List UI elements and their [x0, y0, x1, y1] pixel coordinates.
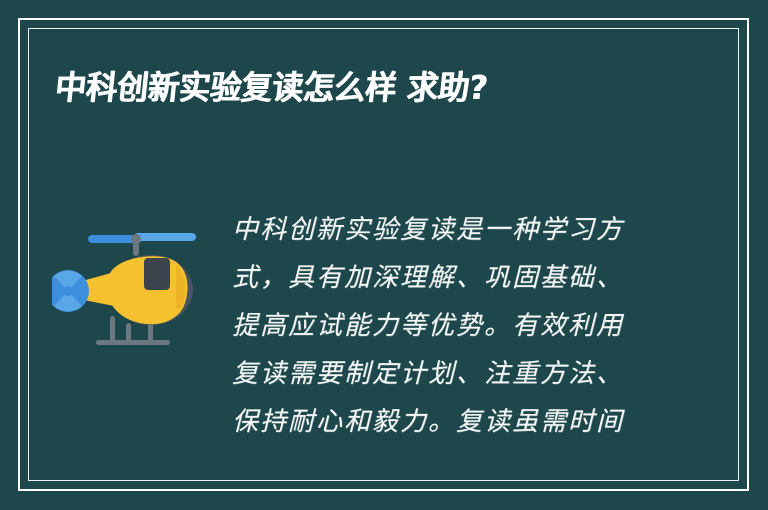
body-text: 中科创新实验复读是一种学习方 式，具有加深理解、巩固基础、 提高应试能力等优势。… [232, 206, 644, 446]
helicopter-tail-rotor [52, 270, 89, 312]
body-text-line: 复读需要制定计划、注重方法、 [232, 350, 644, 398]
body-text-line: 式，具有加深理解、巩固基础、 [232, 254, 644, 302]
page-title: 中科创新实验复读怎么样 求助? [53, 68, 678, 108]
article-cover-card: 中科创新实验复读怎么样 求助? [0, 0, 768, 510]
body-text-line: 提高应试能力等优势。有效利用 [232, 302, 644, 350]
body-text-line: 中科创新实验复读是一种学习方 [232, 206, 644, 254]
body-text-line: 保持耐心和毅力。复读虽需时间 [232, 398, 644, 446]
helicopter-window [144, 258, 170, 290]
helicopter-main-rotor [88, 233, 196, 244]
helicopter-emoji [52, 228, 208, 350]
